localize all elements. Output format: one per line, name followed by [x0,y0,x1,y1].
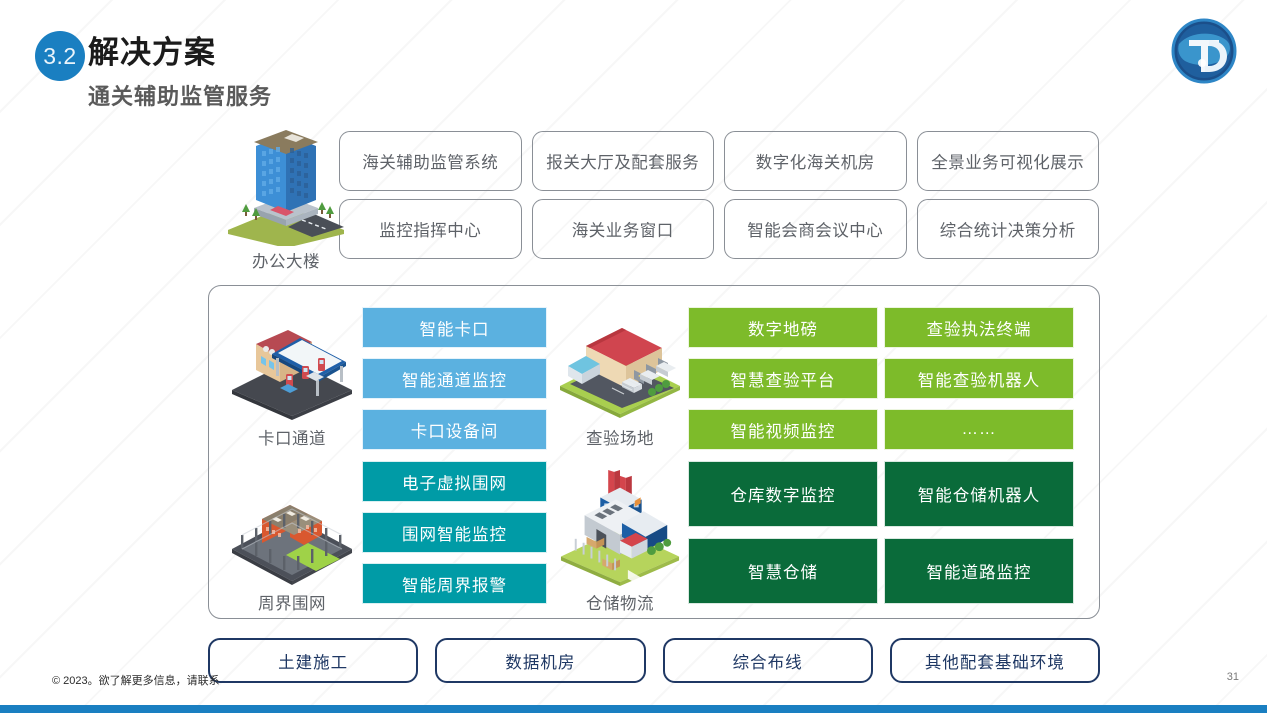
page-title: 解决方案 [88,27,216,72]
block-inspection-enforcement-terminal[interactable]: 查验执法终端 [884,307,1074,348]
checkpoint-gate-illustration [228,303,356,423]
illustration-caption-checkpoint: 卡口通道 [228,425,356,449]
illustration-caption-office-tower: 办公大楼 [222,248,350,272]
copyright-note: © 2023。欲了解更多信息，请联系 [52,672,220,688]
block-smart-inspection-robot[interactable]: 智能查验机器人 [884,358,1074,399]
block-smart-road-monitoring[interactable]: 智能道路监控 [884,538,1074,604]
top-box-smart-conference-center[interactable]: 智能会商会议中心 [724,199,907,259]
top-box-digital-customs-room[interactable]: 数字化海关机房 [724,131,907,191]
illustration-caption-warehouse-logistics: 仓储物流 [556,590,684,614]
perimeter-fence-illustration [228,468,356,588]
top-box-monitoring-command-center[interactable]: 监控指挥中心 [339,199,522,259]
illustration-checkpoint-gate: 卡口通道 [228,303,356,449]
block-electronic-virtual-fence[interactable]: 电子虚拟围网 [362,461,547,502]
block-digital-weighbridge[interactable]: 数字地磅 [688,307,878,348]
illustration-caption-perimeter: 周界围网 [228,590,356,614]
illustration-perimeter-fence: 周界围网 [228,468,356,614]
bottom-box-integrated-cabling[interactable]: 综合布线 [663,638,873,683]
block-smart-video-monitoring[interactable]: 智能视频监控 [688,409,878,450]
inspection-yard-illustration [556,303,684,423]
block-smart-inspection-platform[interactable]: 智慧查验平台 [688,358,878,399]
bottom-box-data-center-room[interactable]: 数据机房 [435,638,645,683]
bottom-accent-bar [0,705,1267,713]
illustration-office-tower: 办公大楼 [222,126,350,272]
block-smart-warehousing[interactable]: 智慧仓储 [688,538,878,604]
block-fence-smart-monitoring[interactable]: 围网智能监控 [362,512,547,553]
top-box-panoramic-visualization[interactable]: 全景业务可视化展示 [917,131,1100,191]
bottom-box-other-infrastructure[interactable]: 其他配套基础环境 [890,638,1100,683]
block-smart-checkpoint[interactable]: 智能卡口 [362,307,547,348]
office-tower-illustration [222,126,350,246]
foundation-row: 土建施工 数据机房 综合布线 其他配套基础环境 [208,638,1100,683]
page-number: 31 [1227,671,1239,683]
top-box-declaration-hall[interactable]: 报关大厅及配套服务 [532,131,715,191]
illustration-warehouse-logistics: 仓储物流 [556,468,684,614]
bottom-box-civil-construction[interactable]: 土建施工 [208,638,418,683]
block-smart-lane-monitoring[interactable]: 智能通道监控 [362,358,547,399]
top-services-row-1: 海关辅助监管系统 报关大厅及配套服务 数字化海关机房 全景业务可视化展示 [339,131,1099,191]
illustration-caption-inspection-yard: 查验场地 [556,425,684,449]
block-smart-perimeter-alarm[interactable]: 智能周界报警 [362,563,547,604]
top-box-customs-service-window[interactable]: 海关业务窗口 [532,199,715,259]
block-checkpoint-equipment-room[interactable]: 卡口设备间 [362,409,547,450]
top-services-grid: 海关辅助监管系统 报关大厅及配套服务 数字化海关机房 全景业务可视化展示 监控指… [339,131,1099,267]
block-warehouse-digital-monitoring[interactable]: 仓库数字监控 [688,461,878,527]
illustration-inspection-yard: 查验场地 [556,303,684,449]
top-box-customs-aux-system[interactable]: 海关辅助监管系统 [339,131,522,191]
company-logo-icon [1169,16,1239,86]
block-more-ellipsis[interactable]: …… [884,409,1074,450]
slide-canvas: 3.2 解决方案 通关辅助监管服务 海关辅助监管系统 报关大厅及配套服务 数字化… [0,0,1267,713]
top-services-row-2: 监控指挥中心 海关业务窗口 智能会商会议中心 综合统计决策分析 [339,199,1099,259]
block-smart-storage-robot[interactable]: 智能仓储机器人 [884,461,1074,527]
page-subtitle: 通关辅助监管服务 [88,79,272,111]
section-number-badge: 3.2 [35,31,85,81]
warehouse-logistics-illustration [556,468,684,588]
top-box-statistics-decision-analysis[interactable]: 综合统计决策分析 [917,199,1100,259]
